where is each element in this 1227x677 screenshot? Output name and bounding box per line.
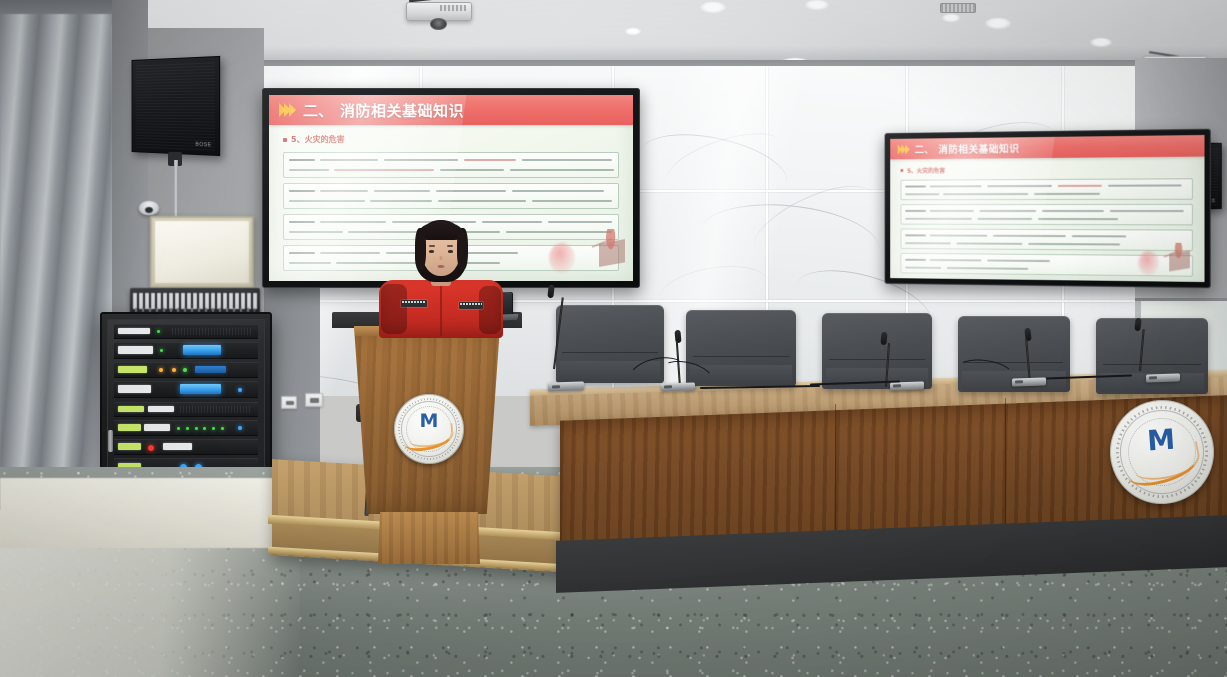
text-line: [374, 190, 430, 192]
jacket-shoulder-shading: [479, 286, 501, 334]
chair-seam: [829, 359, 926, 360]
conference-room-scene: BOSE: [0, 0, 1227, 677]
microphone-gooseneck: [553, 297, 564, 369]
status-led-red: [148, 445, 154, 451]
text-line: [980, 210, 1037, 212]
rack-vent: [180, 406, 252, 413]
slide-bullet-box: [283, 152, 619, 178]
rack-label: [118, 406, 144, 412]
status-led-amber: [172, 368, 176, 372]
camera-lens: [145, 207, 153, 214]
text-line: [930, 185, 982, 187]
jacket-zipper: [440, 282, 442, 336]
ceiling-downlight: [985, 18, 1011, 29]
rack-unit[interactable]: [114, 402, 258, 417]
text-line: [1038, 218, 1118, 220]
presenter-hair-side: [415, 228, 426, 270]
slide-title: 消防相关基础知识: [938, 140, 1019, 156]
firefighter-illustration: [1169, 243, 1190, 278]
microphone-base[interactable]: [548, 381, 584, 391]
status-led-green: [195, 427, 198, 430]
slide-subheading: 5、火灾的危害: [283, 134, 619, 145]
text-line: [947, 267, 1028, 270]
presenter-eyebrow: [429, 245, 435, 247]
text-line: [905, 267, 941, 269]
text-line: [438, 200, 526, 202]
ceiling-downlight: [805, 0, 829, 10]
ceiling-downlight: [1090, 38, 1112, 47]
microphone-base[interactable]: [1012, 377, 1046, 386]
rack-unit[interactable]: [114, 420, 258, 436]
text-line: [993, 235, 1066, 237]
slide-bullet-box: [283, 183, 619, 209]
text-line: [506, 231, 612, 233]
chair-seam: [693, 356, 790, 357]
wall-outlet[interactable]: [281, 396, 297, 409]
badge-text: [460, 303, 482, 305]
speaker-brand-badge: BOSE: [195, 142, 211, 149]
rack-unit[interactable]: [114, 324, 258, 339]
flame-graphic: [1138, 251, 1158, 276]
text-line: [1072, 235, 1126, 237]
rack-label: [118, 424, 141, 431]
presenter-mouth: [438, 265, 445, 268]
rack-unit[interactable]: [114, 342, 258, 359]
table-microphone-1[interactable]: [546, 285, 570, 385]
text-line: [289, 252, 315, 254]
presenter-bangs: [420, 222, 462, 240]
status-led-green: [160, 349, 163, 352]
text-line: [905, 210, 926, 212]
jacket-shoulder-shading: [381, 284, 407, 334]
rack-vent: [172, 328, 251, 336]
text-line: [510, 169, 614, 171]
microphone-head: [1134, 318, 1141, 332]
microphone-head: [547, 285, 554, 299]
outlet-socket: [286, 401, 294, 405]
slide-section-number: 二、: [303, 100, 333, 121]
projector-vent: [440, 5, 466, 11]
text-line: [320, 159, 378, 161]
text-line: [1034, 193, 1100, 195]
text-line: [978, 218, 1033, 220]
chevron-decoration: [898, 144, 910, 154]
text-line: [987, 259, 1050, 262]
text-line: [1028, 243, 1120, 246]
rack-door-handle[interactable]: [108, 430, 113, 452]
slide-title-bar: 二、 消防相关基础知识: [269, 95, 633, 125]
podium-emblem: M: [394, 394, 464, 464]
status-led-amber: [159, 368, 163, 372]
presenter-at-podium: [375, 218, 507, 328]
text-line: [905, 193, 939, 195]
microphone-mute-button[interactable]: [893, 384, 900, 387]
text-line: [464, 159, 516, 161]
text-line: [289, 231, 343, 233]
rack-unit[interactable]: [114, 439, 258, 455]
text-line: [320, 190, 368, 192]
text-line: [370, 200, 432, 202]
text-line: [532, 200, 612, 202]
monitor-screen: [155, 221, 249, 283]
outlet-socket: [310, 398, 319, 403]
table-microphone-5[interactable]: [1132, 318, 1152, 372]
text-line: [289, 221, 315, 223]
wall-speaker-left: BOSE: [132, 56, 221, 156]
presenter-unit-badge: [459, 302, 483, 309]
text-line: [289, 159, 315, 161]
presenter-nose: [440, 256, 443, 260]
rack-label: [118, 328, 150, 334]
podium-base: [378, 512, 480, 564]
ceiling-projector-center: [406, 2, 472, 32]
rack-label: [118, 385, 151, 393]
presenter-hair-side: [457, 228, 468, 270]
microphone-mute-button[interactable]: [1149, 376, 1156, 379]
microphone-mute-button[interactable]: [552, 385, 560, 389]
subheading-text: 5、火灾的危害: [907, 166, 945, 175]
slide-section-number: 二、: [915, 141, 934, 156]
text-line: [440, 169, 504, 171]
audio-mixer-console: [130, 288, 260, 314]
text-line: [905, 242, 951, 244]
conference-chair-3[interactable]: [822, 313, 932, 389]
text-line: [548, 221, 612, 223]
subheading-text: 5、火灾的危害: [291, 134, 345, 145]
slide-title-bar: 二、 消防相关基础知识: [890, 135, 1204, 159]
subheading-bullet-icon: [283, 138, 287, 142]
secondary-display-screen[interactable]: 二、 消防相关基础知识 5、火灾的危害: [885, 129, 1211, 289]
rack-label: [118, 443, 141, 450]
dome-camera: [139, 201, 159, 215]
rack-label: [118, 366, 147, 373]
text-line: [1042, 210, 1104, 212]
text-line: [905, 234, 926, 236]
floor-light-strip: [0, 478, 318, 548]
badge-text: [402, 301, 426, 303]
rack-unit[interactable]: [114, 381, 258, 398]
text-line: [1110, 210, 1184, 212]
presenter-name-badge: [401, 300, 427, 307]
text-line: [930, 259, 982, 261]
chevron-icon: [289, 103, 296, 117]
status-led-green: [221, 427, 224, 430]
firefighter-figure: [1169, 243, 1190, 278]
ceiling-downlight: [942, 14, 960, 22]
slide-bullet-box: [900, 178, 1193, 200]
speaker-support-pole: [174, 160, 178, 222]
rack-lcd-display: [195, 366, 227, 373]
rack-label: [163, 443, 192, 450]
text-line: [512, 190, 604, 192]
slide-bullet-box: [900, 228, 1193, 251]
presenter-eye: [448, 250, 453, 253]
text-line: [384, 159, 458, 161]
projector-lens: [430, 18, 447, 31]
text-line: [1058, 185, 1102, 187]
text-line: [289, 190, 315, 192]
slide-content: 二、 消防相关基础知识 5、火灾的危害: [890, 135, 1204, 282]
presenter-jacket: [379, 280, 503, 338]
text-line: [987, 185, 1052, 187]
text-line: [289, 169, 329, 171]
status-led-green: [186, 427, 189, 430]
text-line: [289, 200, 365, 202]
status-led-green: [177, 427, 180, 430]
rack-label: [118, 346, 153, 354]
subheading-bullet-icon: [900, 169, 903, 172]
text-line: [320, 252, 380, 254]
status-led-blue: [238, 388, 242, 392]
ceiling-downlight: [700, 2, 726, 13]
text-line: [289, 262, 331, 264]
flame-graphic: [549, 243, 575, 273]
door-frame: [1135, 298, 1227, 301]
text-line: [930, 234, 988, 236]
wall-outlet[interactable]: [305, 393, 323, 407]
speaker-brand-badge: B: [1212, 198, 1216, 204]
microphone-head: [880, 332, 887, 345]
rack-unit[interactable]: [114, 362, 258, 378]
slide-title: 消防相关基础知识: [340, 100, 464, 121]
text-line: [436, 190, 506, 192]
chair-seam: [562, 352, 657, 353]
text-line: [930, 210, 974, 212]
status-led-green: [212, 427, 215, 430]
rack-lcd-display: [183, 345, 221, 355]
text-line: [522, 159, 612, 161]
text-line: [334, 169, 434, 171]
text-line: [956, 242, 1022, 244]
slide-subheading: 5、火灾的危害: [900, 164, 1193, 175]
microphone-base[interactable]: [890, 381, 924, 390]
microphone-base[interactable]: [1146, 373, 1180, 382]
microphone-gooseneck: [1025, 339, 1031, 383]
rack-label: [148, 406, 174, 412]
text-line: [943, 193, 1028, 195]
rack-lcd-display: [180, 384, 220, 394]
microphone-gooseneck: [1139, 329, 1145, 371]
rack-label: [144, 424, 170, 431]
text-line: [905, 259, 926, 261]
ceiling-vent: [940, 3, 976, 13]
firefighter-figure: [599, 229, 625, 275]
microphone-mute-button[interactable]: [1015, 380, 1022, 383]
status-led-blue: [238, 426, 242, 430]
ceiling-downlight: [625, 28, 641, 35]
slide-bullet-box: [900, 204, 1193, 226]
conference-chair-5[interactable]: [1096, 318, 1208, 394]
presenter-eyebrow: [447, 245, 453, 247]
speaker-podium: M: [332, 312, 522, 568]
chevron-icon: [905, 144, 910, 154]
text-line: [905, 218, 972, 220]
presenter-eye: [429, 250, 434, 253]
text-line: [1108, 184, 1182, 186]
status-led-green: [183, 368, 187, 372]
text-line: [905, 185, 926, 187]
chevron-decoration: [279, 103, 296, 117]
status-led-green: [203, 427, 206, 430]
speaker-grille: [136, 61, 216, 151]
chair-seam: [1103, 364, 1202, 365]
status-led-green: [157, 330, 160, 333]
rack-top-monitor: [150, 216, 254, 288]
firefighter-illustration: [599, 229, 625, 275]
table-microphone-4[interactable]: [1022, 328, 1042, 384]
